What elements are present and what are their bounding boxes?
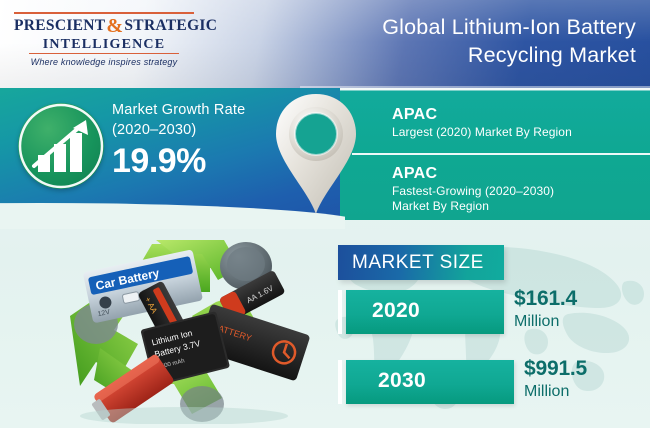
- infographic-canvas: PRESCIENT&STRATEGIC INTELLIGENCE Where k…: [0, 0, 650, 428]
- logo-word-prescient: PRESCIENT: [14, 17, 105, 34]
- logo-line-two: INTELLIGENCE: [14, 36, 194, 53]
- region-fastest-title: APAC: [392, 163, 554, 184]
- company-logo[interactable]: PRESCIENT&STRATEGIC INTELLIGENCE Where k…: [14, 12, 194, 68]
- growth-chart-icon: [18, 103, 104, 189]
- bar-2030: [346, 360, 514, 404]
- market-size-value-2020: $161.4 Million: [514, 286, 577, 331]
- growth-rate-period: (2020–2030): [112, 120, 292, 140]
- region-fastest-block: APAC Fastest-Growing (2020–2030) Market …: [392, 163, 554, 214]
- page-title-line-one: Global Lithium-Ion Battery: [382, 15, 636, 39]
- recycling-batteries-photo: Car Battery 12V + AA AA 1.6V: [34, 228, 334, 424]
- map-pin-icon: [268, 90, 364, 220]
- region-largest-block: APAC Largest (2020) Market By Region: [392, 104, 572, 140]
- region-largest-title: APAC: [392, 104, 572, 125]
- bar-tick-2030: [338, 360, 342, 404]
- growth-rate-label: Market Growth Rate: [112, 101, 292, 120]
- region-fastest-subtitle-line-two: Market By Region: [392, 199, 554, 214]
- market-size-unit-2020: Million: [514, 312, 577, 331]
- region-fastest-subtitle-line-one: Fastest-Growing (2020–2030): [392, 184, 554, 199]
- page-title-line-two: Recycling Market: [292, 41, 636, 69]
- region-largest-subtitle: Largest (2020) Market By Region: [392, 125, 572, 140]
- growth-rate-block: Market Growth Rate (2020–2030) 19.9%: [112, 101, 292, 181]
- growth-rate-value: 19.9%: [112, 140, 292, 181]
- market-size-value-2030: $991.5 Million: [524, 356, 587, 401]
- bar-label-2020: 2020: [372, 299, 420, 323]
- logo-line-one: PRESCIENT&STRATEGIC: [14, 14, 194, 36]
- market-size-amount-2030: $991.5: [524, 356, 587, 382]
- header-banner: PRESCIENT&STRATEGIC INTELLIGENCE Where k…: [0, 0, 650, 88]
- market-size-heading-label: MARKET SIZE: [352, 251, 484, 274]
- market-size-unit-2030: Million: [524, 382, 587, 401]
- logo-ampersand-icon: &: [105, 15, 124, 37]
- bar-tick-2020: [338, 290, 342, 334]
- logo-word-strategic: STRATEGIC: [124, 17, 217, 34]
- market-size-amount-2020: $161.4: [514, 286, 577, 312]
- market-size-heading: MARKET SIZE: [338, 245, 504, 280]
- page-title: Global Lithium-Ion Battery Recycling Mar…: [292, 13, 636, 69]
- region-panel-divider: [352, 153, 650, 155]
- bar-2020: [346, 290, 504, 334]
- bar-label-2030: 2030: [378, 369, 426, 393]
- logo-tagline: Where knowledge inspires strategy: [14, 54, 194, 68]
